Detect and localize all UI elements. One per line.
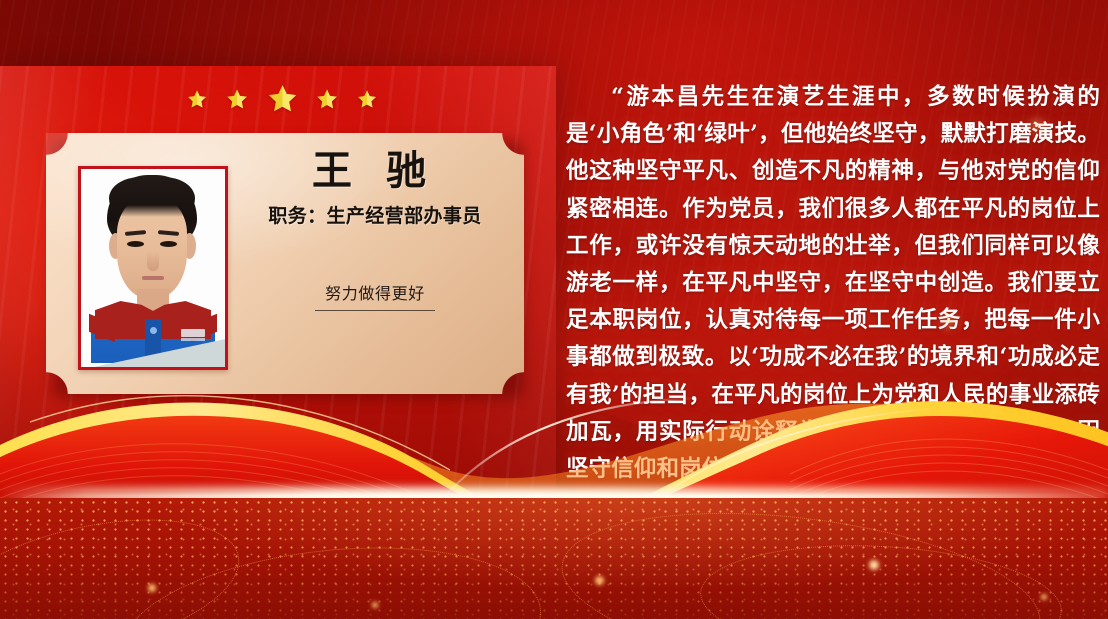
person-role: 职务：生产经营部办事员	[246, 201, 504, 228]
portrait-photo	[81, 169, 225, 367]
person-name: 王 驰	[246, 150, 504, 192]
star-icon	[315, 88, 339, 111]
uniform-logo-subtext	[181, 338, 205, 341]
glow-particle	[372, 602, 378, 608]
avatar	[78, 166, 228, 370]
star-icon	[266, 83, 299, 115]
glow-particle	[1041, 594, 1047, 600]
particle-ground	[0, 498, 1108, 619]
portrait-fringe	[109, 177, 195, 217]
motto-wrapper: 努力做得更好	[246, 280, 504, 311]
star-icon	[225, 88, 249, 111]
star-icon	[186, 89, 208, 110]
star-icon	[356, 89, 378, 110]
sparkle-icon	[1035, 124, 1038, 127]
person-motto: 努力做得更好	[315, 280, 435, 311]
glow-particle	[595, 576, 604, 585]
card-text-block: 王 驰 职务：生产经营部办事员 努力做得更好	[246, 150, 504, 311]
portrait-mouth	[142, 276, 164, 280]
glow-particle	[869, 560, 879, 570]
portrait-eye-right	[160, 241, 177, 247]
star-rating-row	[186, 82, 378, 116]
sparkle-icon	[947, 320, 950, 323]
glow-particle	[148, 584, 156, 592]
slide-root: 王 驰 职务：生产经营部办事员 努力做得更好 “游本昌先生在演艺生涯中，多数时候…	[0, 0, 1108, 619]
uniform-logo-icon	[181, 329, 205, 337]
portrait-uniform-button	[150, 327, 157, 334]
portrait-eye-left	[127, 241, 144, 247]
portrait-nose	[147, 251, 159, 271]
